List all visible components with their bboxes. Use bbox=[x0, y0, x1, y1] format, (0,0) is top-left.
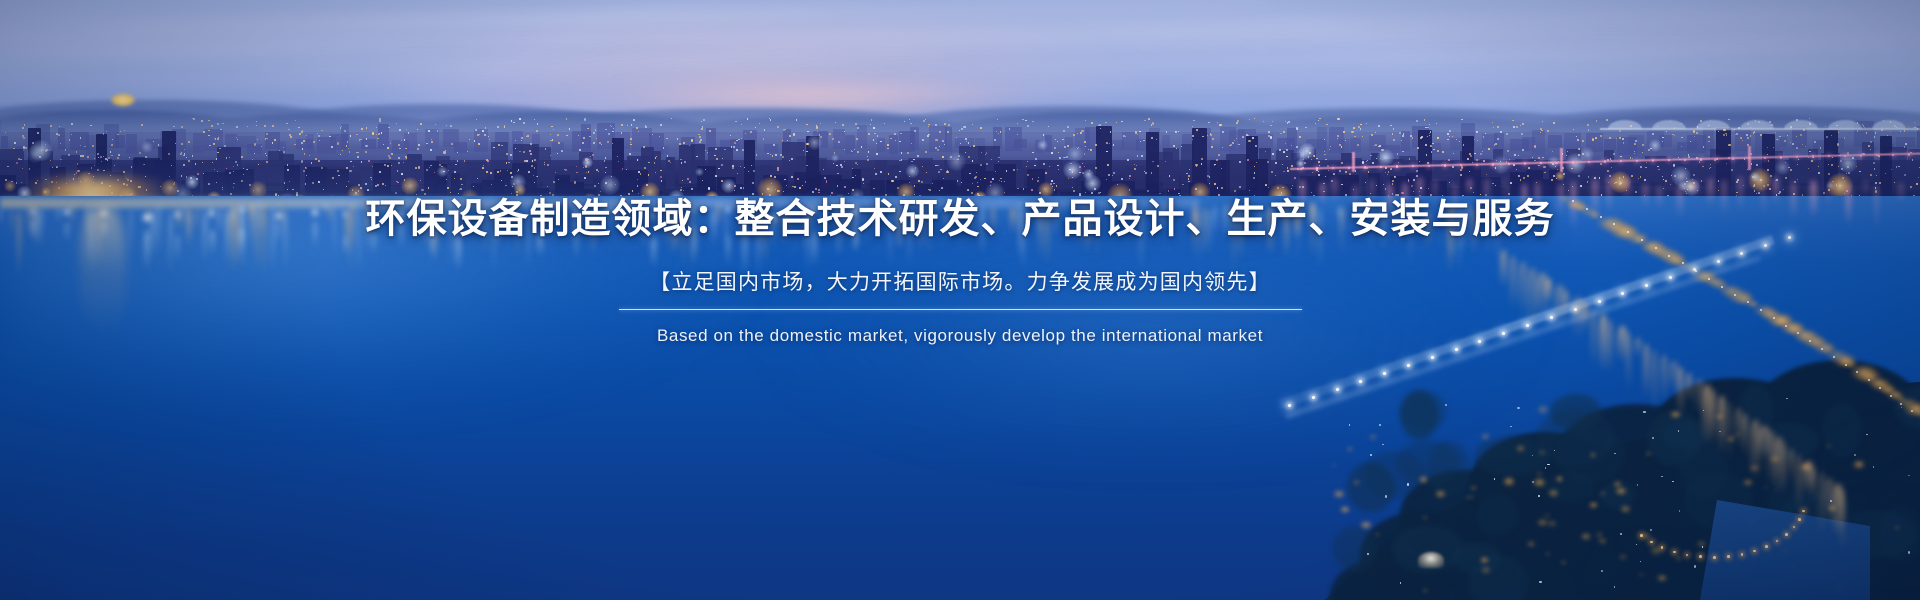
hero-banner: 环保设备制造领域：整合技术研发、产品设计、生产、安装与服务 【立足国内市场，大力… bbox=[0, 0, 1920, 600]
moon-glow bbox=[110, 93, 136, 107]
waterfront-pavilion bbox=[1418, 552, 1444, 568]
